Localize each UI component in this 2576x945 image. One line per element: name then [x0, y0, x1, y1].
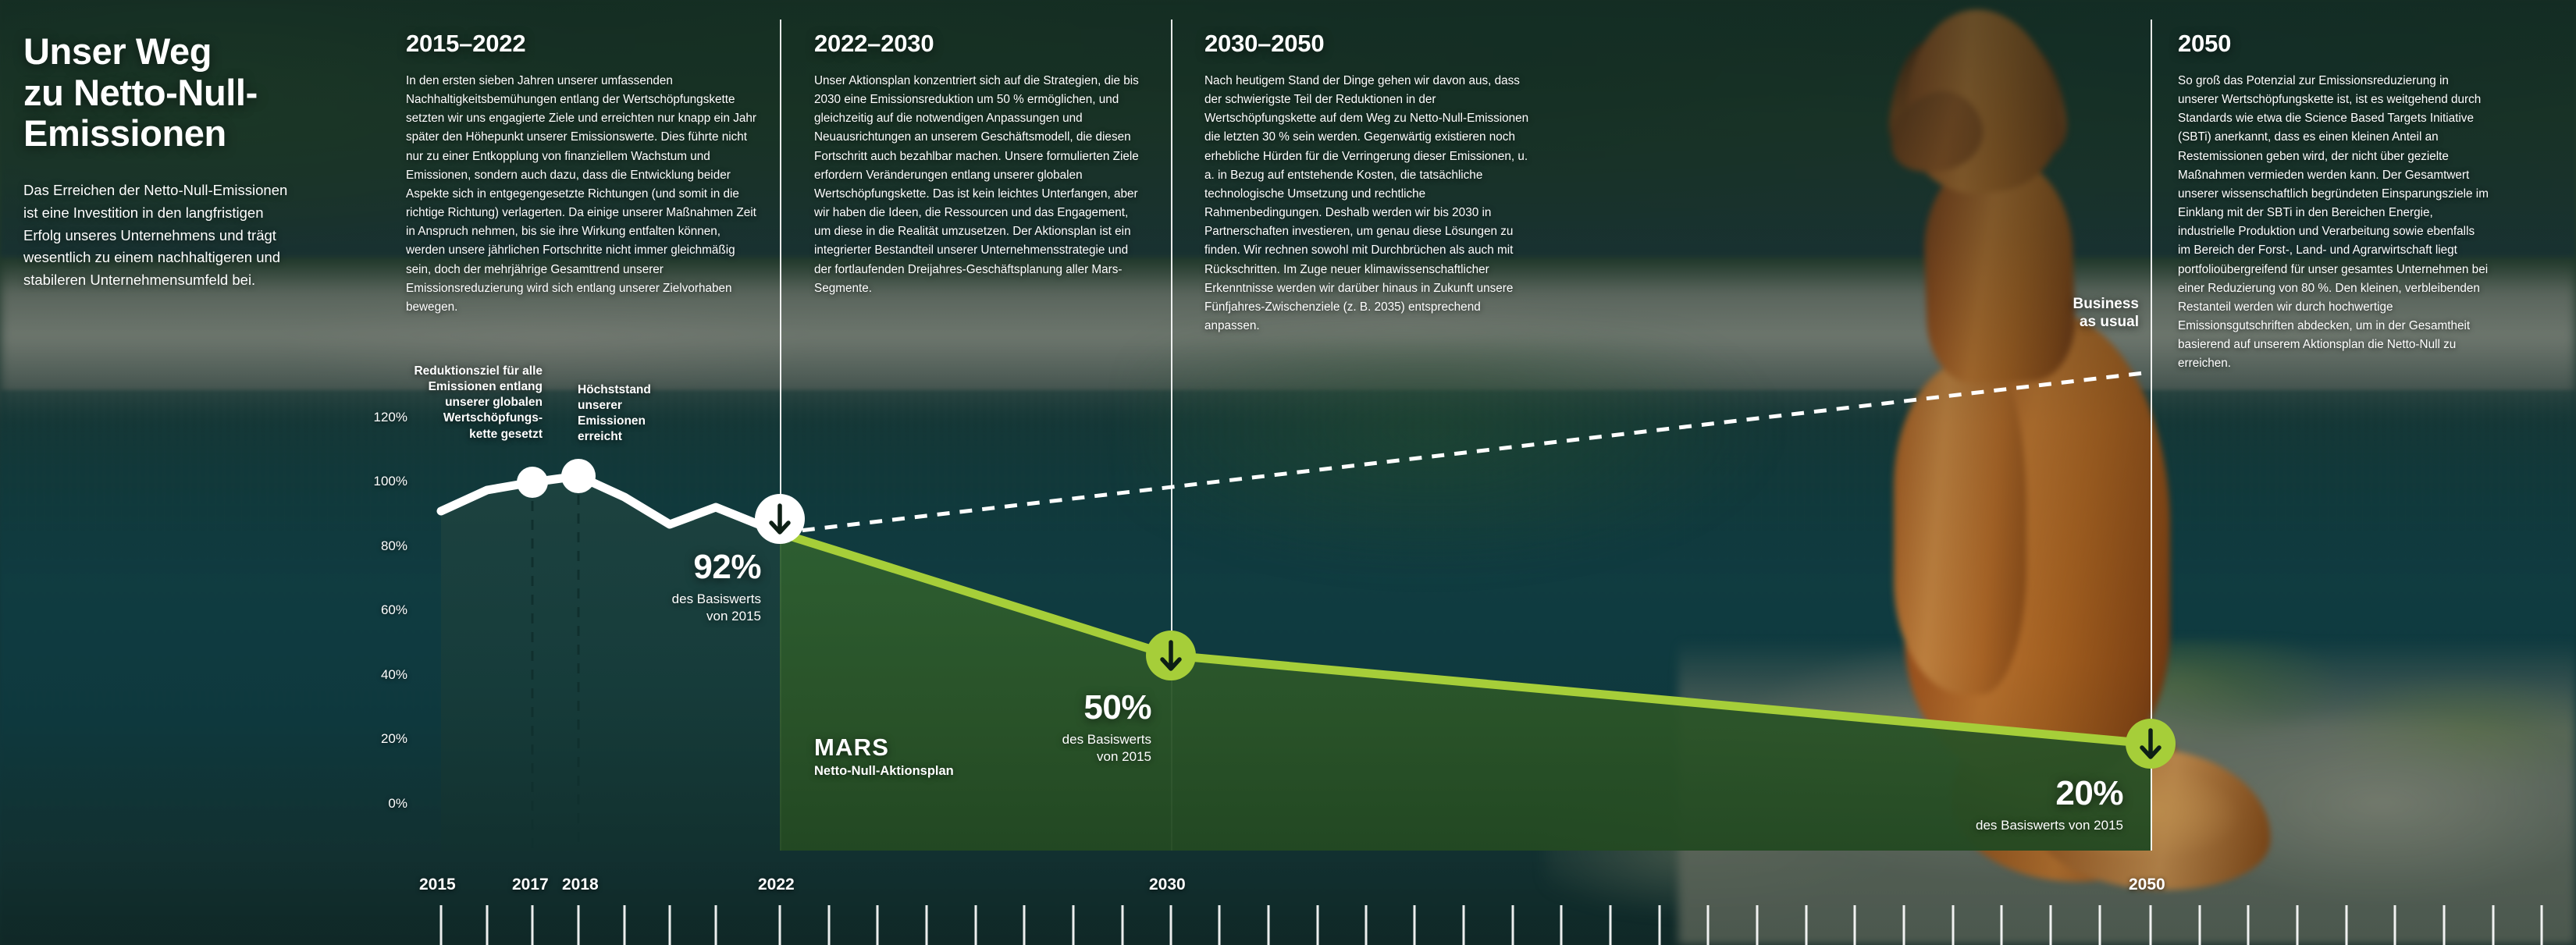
callout-50-value: 50%: [968, 691, 1151, 725]
callout-20: 20% des Basiswerts von 2015: [1811, 776, 2123, 834]
callout-92: 92% des Basiswertsvon 2015: [578, 550, 761, 625]
callout-20-sub: des Basiswerts von 2015: [1811, 817, 2123, 834]
y-tick-40: 40%: [337, 667, 407, 683]
x-axis-ticks: [441, 905, 2542, 945]
callout-20-value: 20%: [1811, 776, 2123, 811]
y-tick-60: 60%: [337, 602, 407, 618]
y-tick-80: 80%: [337, 538, 407, 554]
brand-name: MARS: [814, 734, 954, 762]
business-as-usual-label: Businessas usual: [1998, 295, 2139, 331]
annotation-2018-peak: HöchststandunsererEmissionenerreicht: [578, 382, 703, 446]
brand-block: MARS Netto-Null-Aktionsplan: [814, 734, 954, 779]
series-business-as-usual: [780, 372, 2151, 533]
brand-subtitle: Netto-Null-Aktionsplan: [814, 764, 954, 779]
y-tick-20: 20%: [337, 731, 407, 747]
x-tick-2018: 2018: [562, 876, 599, 894]
marker-arrow-2030: [1146, 631, 1196, 680]
annotation-2017-target: Reduktionsziel für alleEmissionen entlan…: [375, 364, 543, 442]
x-tick-2030: 2030: [1149, 876, 1186, 894]
area-fill-historical: [441, 476, 780, 851]
marker-dot-2018: [561, 459, 596, 493]
x-tick-2050: 2050: [2129, 876, 2165, 894]
callout-92-sub: des Basiswertsvon 2015: [578, 591, 761, 625]
x-tick-2022: 2022: [758, 876, 795, 894]
y-tick-100: 100%: [337, 474, 407, 489]
x-tick-2017: 2017: [512, 876, 549, 894]
callout-92-value: 92%: [578, 550, 761, 584]
y-tick-0: 0%: [337, 796, 407, 812]
callout-50: 50% des Basiswertsvon 2015: [968, 691, 1151, 766]
marker-dot-2017: [517, 467, 548, 498]
callout-50-sub: des Basiswertsvon 2015: [968, 731, 1151, 766]
marker-arrow-2050: [2126, 719, 2176, 769]
marker-arrow-2022: [755, 494, 805, 544]
x-tick-2015: 2015: [419, 876, 456, 894]
